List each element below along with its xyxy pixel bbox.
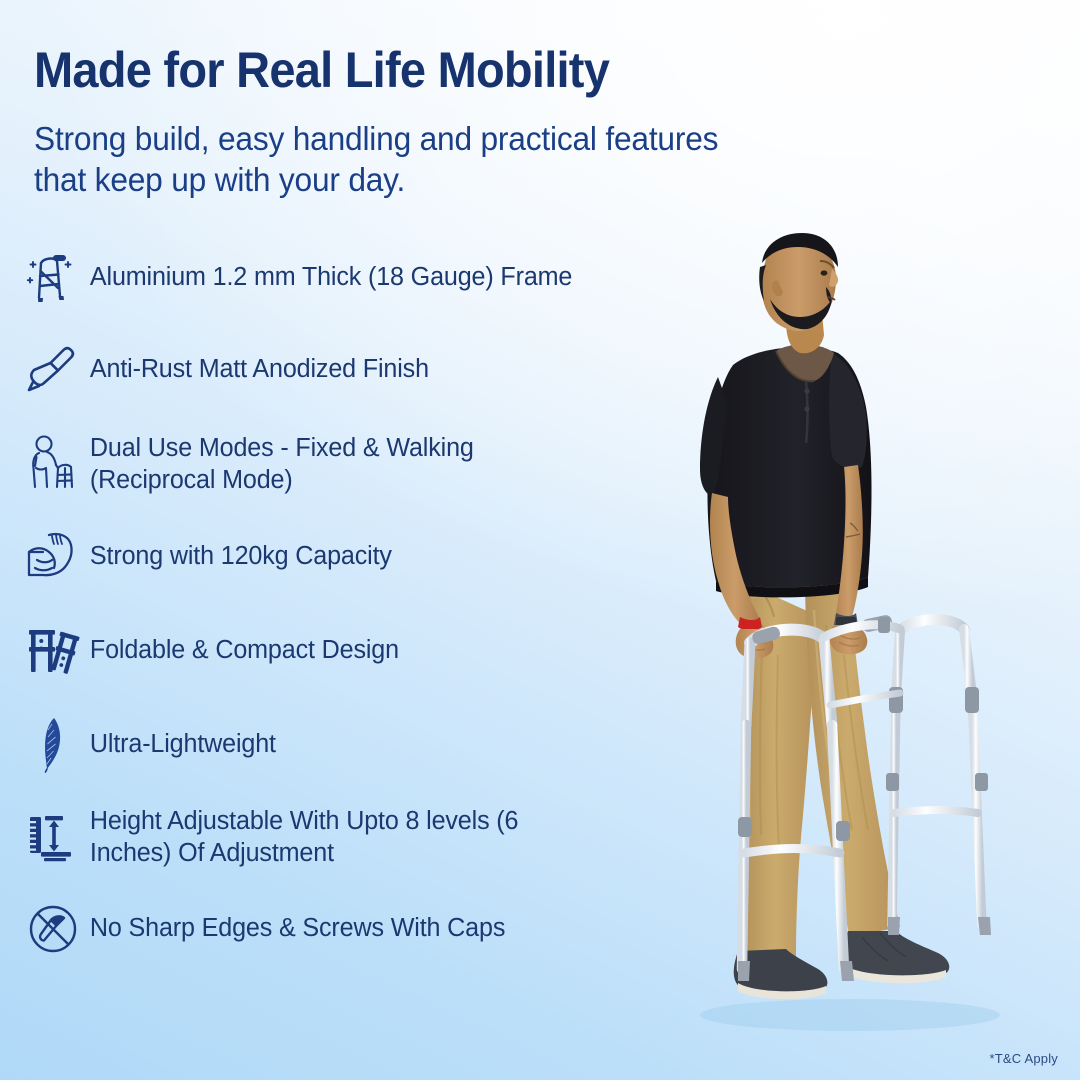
folding-frame-icon [22, 619, 84, 681]
headline-block: Made for Real Life Mobility Strong build… [34, 44, 794, 201]
fine-print: *T&C Apply [990, 1051, 1058, 1066]
list-item-label: Strong with 120kg Capacity [84, 540, 392, 572]
feather-icon [22, 713, 84, 775]
list-item-label: Height Adjustable With Upto 8 levels (6 … [84, 805, 575, 870]
list-item: Foldable & Compact Design [22, 619, 582, 681]
page-subtitle: Strong build, easy handling and practica… [34, 119, 764, 201]
list-item-label: No Sharp Edges & Screws With Caps [84, 912, 505, 944]
list-item: Ultra-Lightweight [22, 713, 582, 775]
flexed-bicep-icon [22, 525, 84, 587]
list-item: Aluminium 1.2 mm Thick (18 Gauge) Frame [22, 246, 582, 308]
list-item-label: Foldable & Compact Design [84, 634, 399, 666]
list-item: Dual Use Modes - Fixed & Walking (Recipr… [22, 432, 582, 497]
list-item-label: Dual Use Modes - Fixed & Walking (Recipr… [84, 432, 575, 497]
paintbrush-icon [22, 338, 84, 400]
product-photo [600, 225, 1080, 1080]
list-item: Strong with 120kg Capacity [22, 525, 582, 587]
promo-poster: Made for Real Life Mobility Strong build… [0, 0, 1080, 1080]
list-item: Anti-Rust Matt Anodized Finish [22, 338, 582, 400]
walker-sparkle-icon [22, 246, 84, 308]
list-item-label: Anti-Rust Matt Anodized Finish [84, 353, 429, 385]
feature-list: Aluminium 1.2 mm Thick (18 Gauge) Frame … [22, 246, 582, 960]
person-walker-icon [22, 433, 84, 495]
list-item-label: Ultra-Lightweight [84, 728, 276, 760]
list-item-label: Aluminium 1.2 mm Thick (18 Gauge) Frame [84, 261, 572, 293]
list-item: Height Adjustable With Upto 8 levels (6 … [22, 805, 582, 870]
no-knife-icon [22, 898, 84, 960]
page-title: Made for Real Life Mobility [34, 44, 748, 97]
list-item: No Sharp Edges & Screws With Caps [22, 898, 582, 960]
ruler-arrow-icon [22, 806, 84, 868]
